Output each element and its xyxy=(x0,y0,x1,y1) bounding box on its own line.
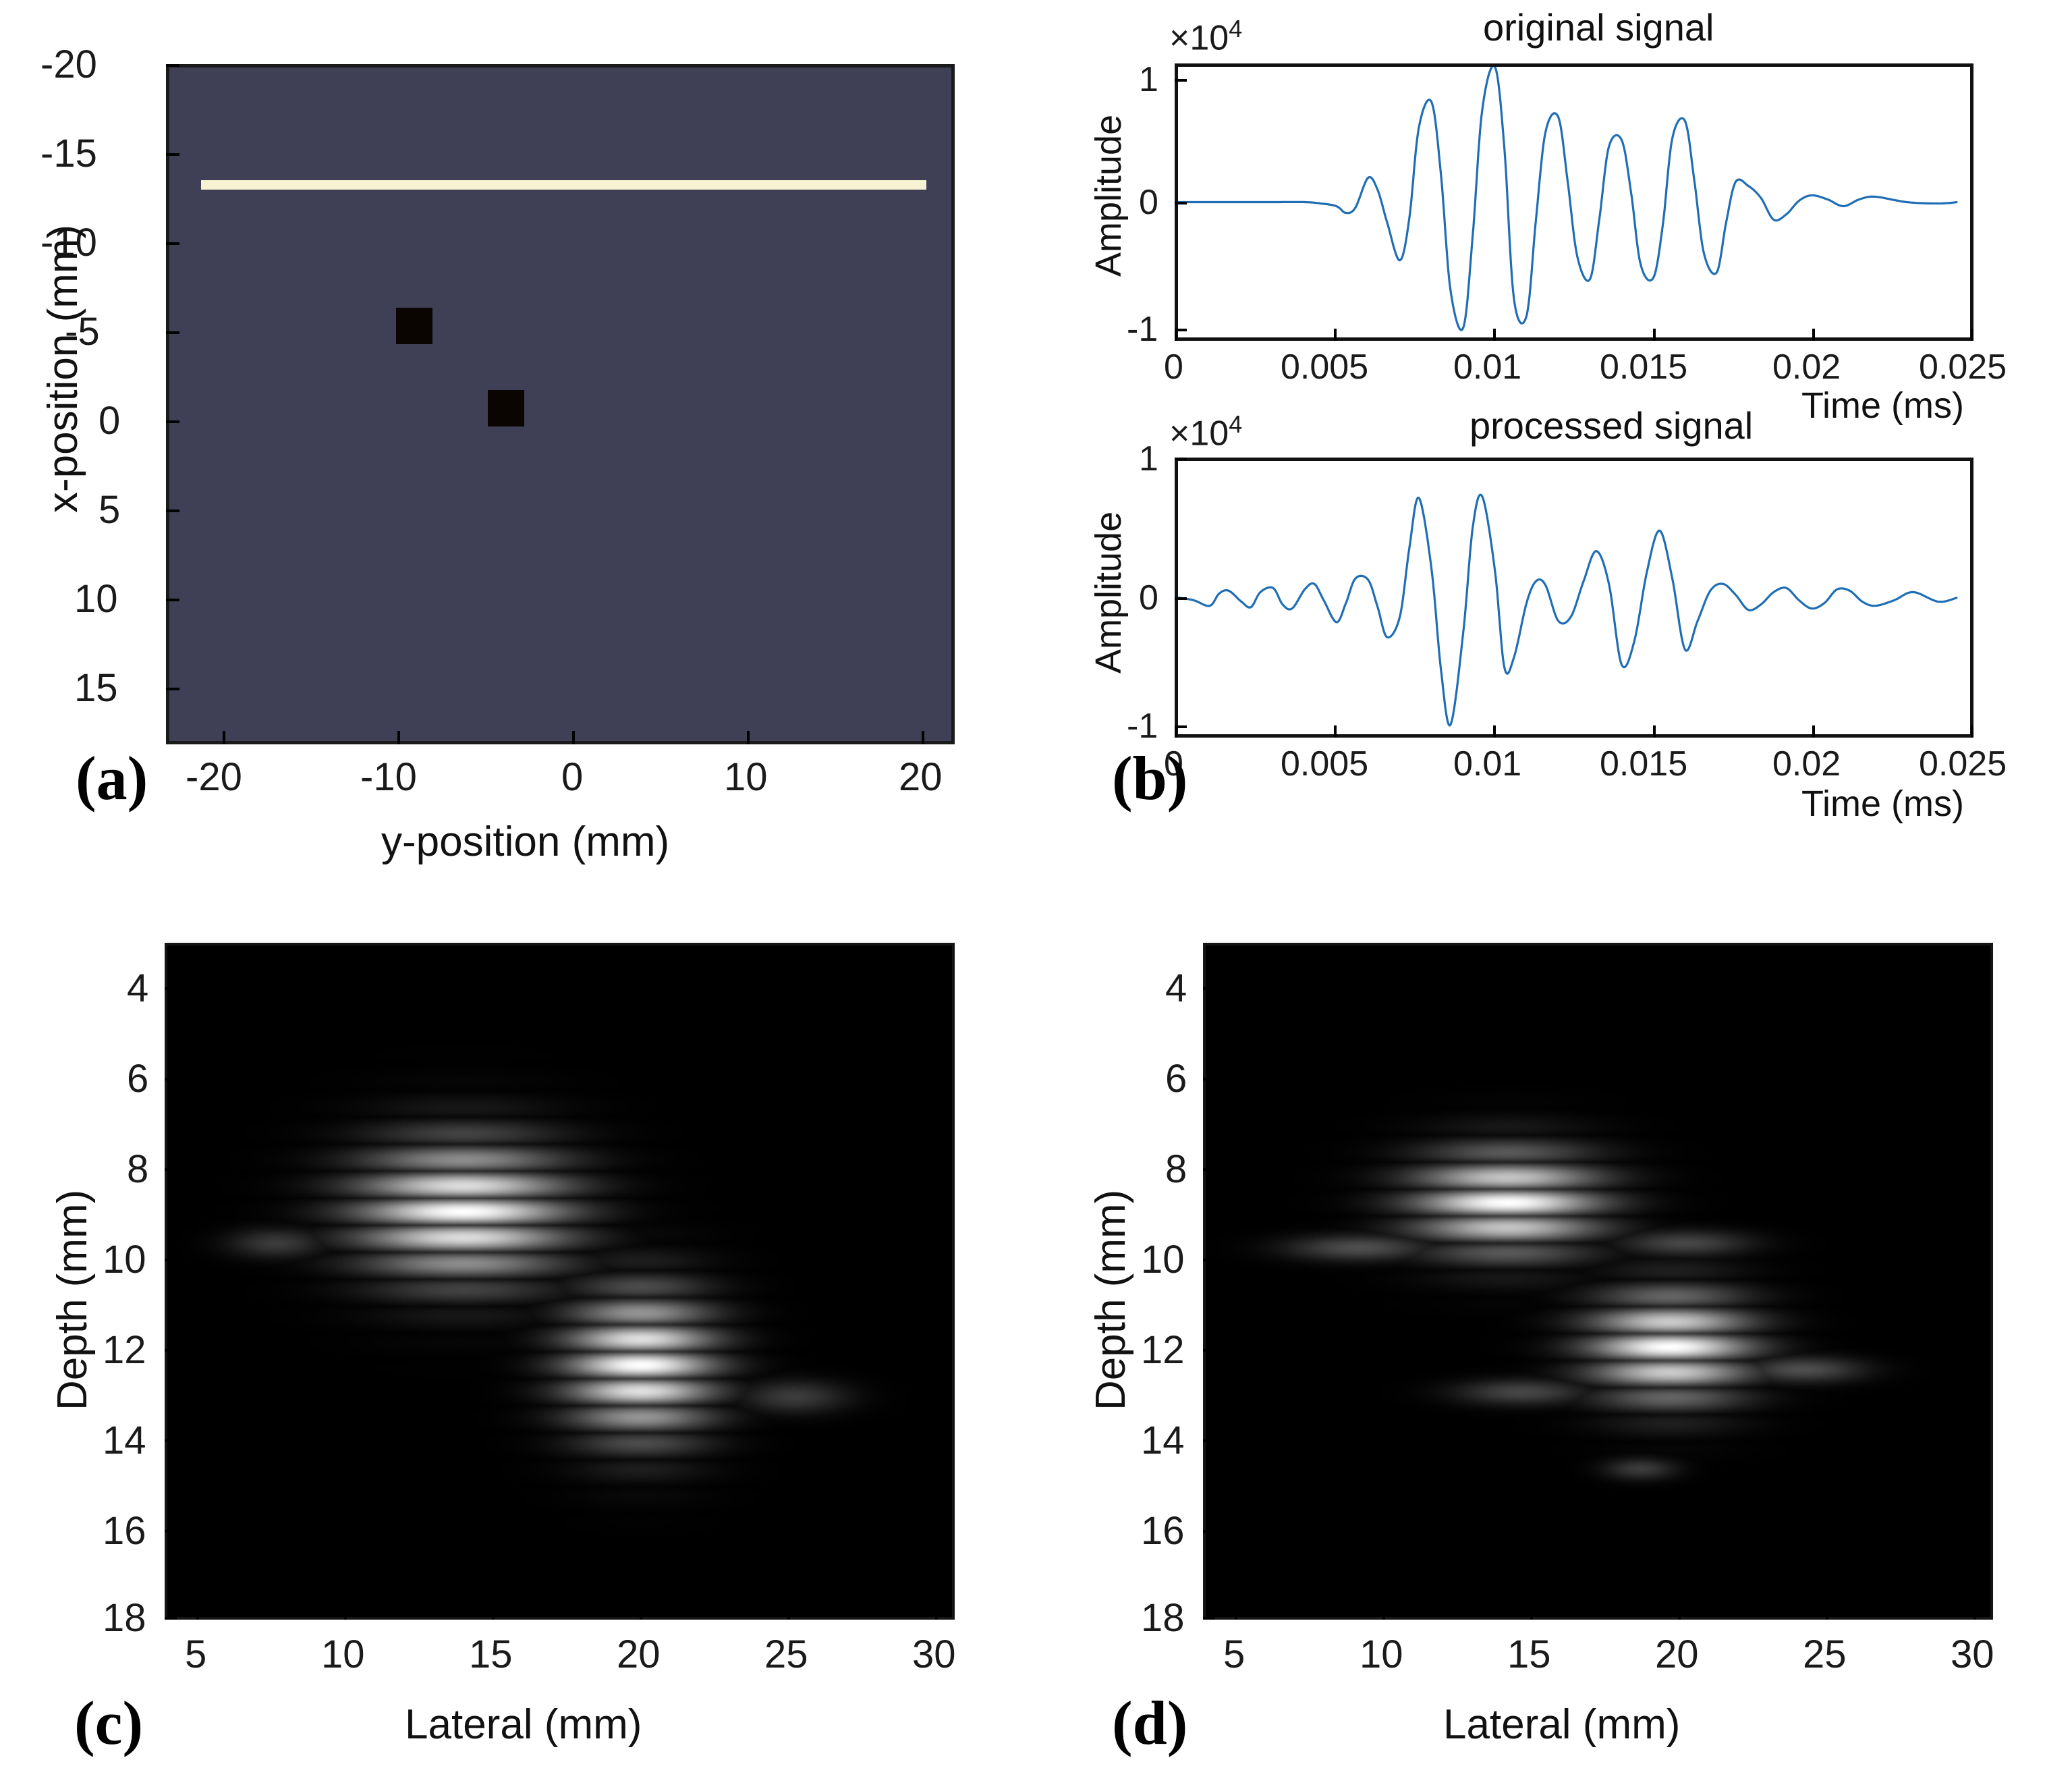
panel-c-xtick xyxy=(640,1607,642,1620)
panel-d-ytick xyxy=(1203,1617,1215,1620)
panel-b-top-y-axis-label: Amplitude xyxy=(1088,115,1129,277)
panel-b-top-ytick-label: 1 xyxy=(1139,59,1158,100)
panel-a-y-axis-label: x-position (mm) xyxy=(39,225,87,513)
panel-c-ytick xyxy=(165,1078,177,1080)
panel-a-ytick xyxy=(166,331,179,334)
panel-a-letter: (a) xyxy=(76,742,148,814)
panel-d-xtick xyxy=(1382,1607,1385,1620)
exponent-power: 4 xyxy=(1229,15,1242,43)
panel-c-ytick xyxy=(165,1530,177,1533)
panel-d-ytick xyxy=(1203,1168,1215,1171)
panel-d-ytick xyxy=(1203,1259,1215,1261)
panel-b-bottom-x-axis-label: Time (ms) xyxy=(1801,783,1964,825)
panel-a-xtick-label: -20 xyxy=(186,754,242,800)
transducer-array-line xyxy=(201,180,926,190)
panel-c-plot-area xyxy=(165,943,955,1620)
panel-b: 1 0 -1 0 0.005 0.01 0.015 0.02 0.025 ori… xyxy=(1046,0,2072,911)
panel-d-ytick-label: 10 xyxy=(1141,1237,1185,1282)
panel-c-xtick xyxy=(196,1607,199,1620)
target-square-2 xyxy=(488,390,524,427)
exponent-base: ×10 xyxy=(1169,414,1229,453)
panel-c-ytick-label: 4 xyxy=(127,966,148,1011)
panel-a: -20 -15 -10 -5 0 5 10 15 -20 -10 0 10 20… xyxy=(0,0,1046,911)
panel-c-ytick-label: 16 xyxy=(103,1508,146,1554)
panel-a-xtick xyxy=(572,731,575,744)
panel-b-bottom-y-axis-label: Amplitude xyxy=(1088,512,1129,673)
panel-b-bottom-xtick xyxy=(1175,725,1177,738)
panel-d-xtick xyxy=(1826,1607,1828,1620)
panel-c-ytick xyxy=(165,1439,177,1442)
panel-a-ytick-label: 15 xyxy=(74,665,118,711)
panel-c-letter: (c) xyxy=(74,1687,143,1759)
panel-a-ytick xyxy=(166,510,179,512)
panel-d-x-axis-label: Lateral (mm) xyxy=(1443,1701,1680,1749)
panel-c-ytick-label: 10 xyxy=(103,1237,146,1282)
panel-c-ytick-label: 18 xyxy=(103,1595,146,1641)
exponent-base: ×10 xyxy=(1169,18,1229,57)
panel-b-top-xtick-label: 0.005 xyxy=(1281,347,1368,387)
panel-d-xtick-label: 30 xyxy=(1951,1632,1994,1677)
panel-c-ytick xyxy=(165,1349,177,1352)
panel-a-xtick-label: 10 xyxy=(724,754,768,800)
panel-b-bottom-ytick-label: 0 xyxy=(1139,578,1158,618)
panel-c-ytick-label: 12 xyxy=(103,1327,146,1373)
panel-b-bottom-xtick xyxy=(1971,725,1973,738)
panel-c-xtick-label: 30 xyxy=(912,1632,956,1677)
panel-c-ytick-label: 6 xyxy=(127,1056,148,1101)
panel-b-bottom-xtick-label: 0.015 xyxy=(1600,744,1687,784)
panel-a-xtick-label: 20 xyxy=(899,754,943,800)
panel-b-bottom-xtick xyxy=(1334,725,1337,738)
panel-a-ytick xyxy=(166,64,179,67)
panel-d-ytick-label: 6 xyxy=(1165,1056,1187,1101)
panel-c-x-axis-label: Lateral (mm) xyxy=(405,1701,642,1749)
panel-c-ytick xyxy=(165,1259,177,1261)
panel-b-top-xtick-label: 0.01 xyxy=(1453,347,1521,387)
panel-c-xtick-label: 25 xyxy=(764,1632,808,1677)
panel-b-bottom-xtick-label: 0.01 xyxy=(1453,744,1521,784)
panel-b-bottom-title: processed signal xyxy=(1469,404,1753,447)
panel-b-bottom-xtick-label: 0.005 xyxy=(1281,744,1368,784)
panel-d-y-axis-label: Depth (mm) xyxy=(1087,1190,1135,1410)
panel-a-xtick xyxy=(922,731,924,744)
panel-b-bottom-exponent: ×104 xyxy=(1169,410,1242,453)
panel-d-bmode-image xyxy=(1206,945,1993,1620)
panel-d-xtick-label: 20 xyxy=(1655,1632,1699,1677)
panel-b-top-ytick xyxy=(1175,202,1187,204)
panel-d-ytick xyxy=(1203,1078,1215,1080)
panel-b-bottom-ytick-label: -1 xyxy=(1127,706,1158,746)
panel-b-bottom-plot-area xyxy=(1175,458,1973,738)
panel-b-top-xtick-label: 0 xyxy=(1164,347,1183,387)
panel-c-y-axis-label: Depth (mm) xyxy=(49,1190,96,1410)
panel-b-top-xtick-label: 0.02 xyxy=(1772,347,1841,387)
panel-a-xtick xyxy=(223,731,225,744)
panel-b-top-title: original signal xyxy=(1483,5,1714,49)
panel-c-xtick xyxy=(492,1607,495,1620)
panel-b-top-plot-area xyxy=(1175,63,1973,341)
panel-a-xtick xyxy=(397,731,400,744)
panel-d-ytick xyxy=(1203,987,1215,990)
original-signal-trace xyxy=(1178,67,1970,337)
panel-d-letter: (d) xyxy=(1112,1687,1187,1759)
panel-d-ytick xyxy=(1203,1439,1215,1442)
panel-c-ytick-label: 8 xyxy=(127,1147,148,1192)
panel-a-x-axis-label: y-position (mm) xyxy=(381,818,669,866)
panel-b-top-xtick-label: 0.015 xyxy=(1600,347,1687,387)
panel-d-xtick-label: 5 xyxy=(1223,1632,1245,1677)
panel-d-xtick xyxy=(1235,1607,1237,1620)
panel-b-top-ytick xyxy=(1175,79,1187,82)
panel-b-top-x-axis-label: Time (ms) xyxy=(1801,385,1964,427)
panel-c-xtick xyxy=(935,1607,938,1620)
panel-d-ytick-label: 12 xyxy=(1141,1327,1185,1373)
panel-d-ytick xyxy=(1203,1530,1215,1533)
panel-b-top-xtick xyxy=(1493,329,1496,341)
panel-a-ytick xyxy=(166,242,179,245)
panel-d-xtick xyxy=(1973,1607,1976,1620)
panel-a-xtick-label: 0 xyxy=(561,754,583,800)
panel-a-ytick-label: 10 xyxy=(74,576,118,622)
panel-c-xtick-label: 10 xyxy=(321,1632,365,1677)
panel-c: 4 6 8 10 12 14 16 18 5 10 15 20 25 30 De… xyxy=(0,911,1046,1787)
panel-b-top-xtick xyxy=(1653,329,1656,341)
target-square-1 xyxy=(396,308,432,344)
panel-a-ytick-label: 5 xyxy=(99,487,120,532)
processed-signal-trace xyxy=(1178,461,1970,734)
panel-d-ytick-label: 18 xyxy=(1141,1595,1185,1641)
panel-c-xtick-label: 15 xyxy=(469,1632,513,1677)
panel-b-bottom-xtick-label: 0.02 xyxy=(1772,744,1841,784)
panel-d-ytick-label: 14 xyxy=(1141,1418,1185,1463)
panel-b-top-ytick-label: 0 xyxy=(1139,182,1158,223)
panel-a-ytick-label: 0 xyxy=(99,398,120,443)
panel-a-ytick xyxy=(166,599,179,601)
panel-d-ytick-label: 4 xyxy=(1165,966,1187,1011)
panel-b-letter: (b) xyxy=(1112,742,1187,814)
panel-d-xtick xyxy=(1530,1607,1533,1620)
panel-a-ytick-label: -20 xyxy=(40,42,97,87)
panel-b-top-xtick xyxy=(1971,329,1973,341)
panel-d-ytick-label: 8 xyxy=(1165,1147,1187,1192)
panel-b-top-exponent: ×104 xyxy=(1169,15,1242,58)
panel-c-bmode-image xyxy=(167,945,955,1620)
panel-c-ytick-label: 14 xyxy=(103,1418,146,1463)
panel-b-bottom-xtick xyxy=(1812,725,1815,738)
panel-d-xtick-label: 10 xyxy=(1360,1632,1403,1677)
panel-b-top-xtick xyxy=(1175,329,1177,341)
panel-a-xtick-label: -10 xyxy=(360,754,417,800)
panel-c-xtick xyxy=(787,1607,790,1620)
panel-d-xtick-label: 15 xyxy=(1507,1632,1551,1677)
panel-b-top-xtick xyxy=(1334,329,1337,341)
panel-d-xtick xyxy=(1678,1607,1681,1620)
panel-c-ytick xyxy=(165,1168,177,1171)
exponent-power: 4 xyxy=(1229,410,1242,438)
panel-b-bottom-xtick-label: 0.025 xyxy=(1919,744,2007,784)
panel-b-bottom-ytick xyxy=(1175,458,1187,460)
panel-b-bottom-ytick-label: 1 xyxy=(1139,439,1158,479)
panel-b-bottom-ytick xyxy=(1175,597,1187,600)
panel-b-top-xtick xyxy=(1812,329,1815,341)
panel-a-ytick xyxy=(166,420,179,423)
panel-c-ytick xyxy=(165,1617,177,1620)
panel-a-xtick xyxy=(747,731,750,744)
panel-a-ytick xyxy=(166,688,179,690)
panel-b-bottom-xtick xyxy=(1653,725,1656,738)
panel-d: 4 6 8 10 12 14 16 18 5 10 15 20 25 30 De… xyxy=(1046,911,2072,1787)
panel-d-ytick xyxy=(1203,1349,1215,1352)
panel-c-xtick xyxy=(344,1607,347,1620)
panel-d-ytick-label: 16 xyxy=(1141,1508,1185,1554)
panel-b-top-ytick-label: -1 xyxy=(1127,309,1158,350)
panel-c-ytick xyxy=(165,987,177,990)
panel-d-plot-area xyxy=(1203,943,1993,1620)
panel-a-plot-area xyxy=(166,64,955,744)
panel-c-xtick-label: 20 xyxy=(617,1632,661,1677)
panel-a-ytick-label: -15 xyxy=(40,131,97,176)
panel-c-xtick-label: 5 xyxy=(185,1632,206,1677)
panel-d-xtick-label: 25 xyxy=(1803,1632,1847,1677)
panel-b-top-xtick-label: 0.025 xyxy=(1919,347,2007,387)
panel-b-bottom-xtick xyxy=(1493,725,1496,738)
panel-a-ytick xyxy=(166,153,179,156)
